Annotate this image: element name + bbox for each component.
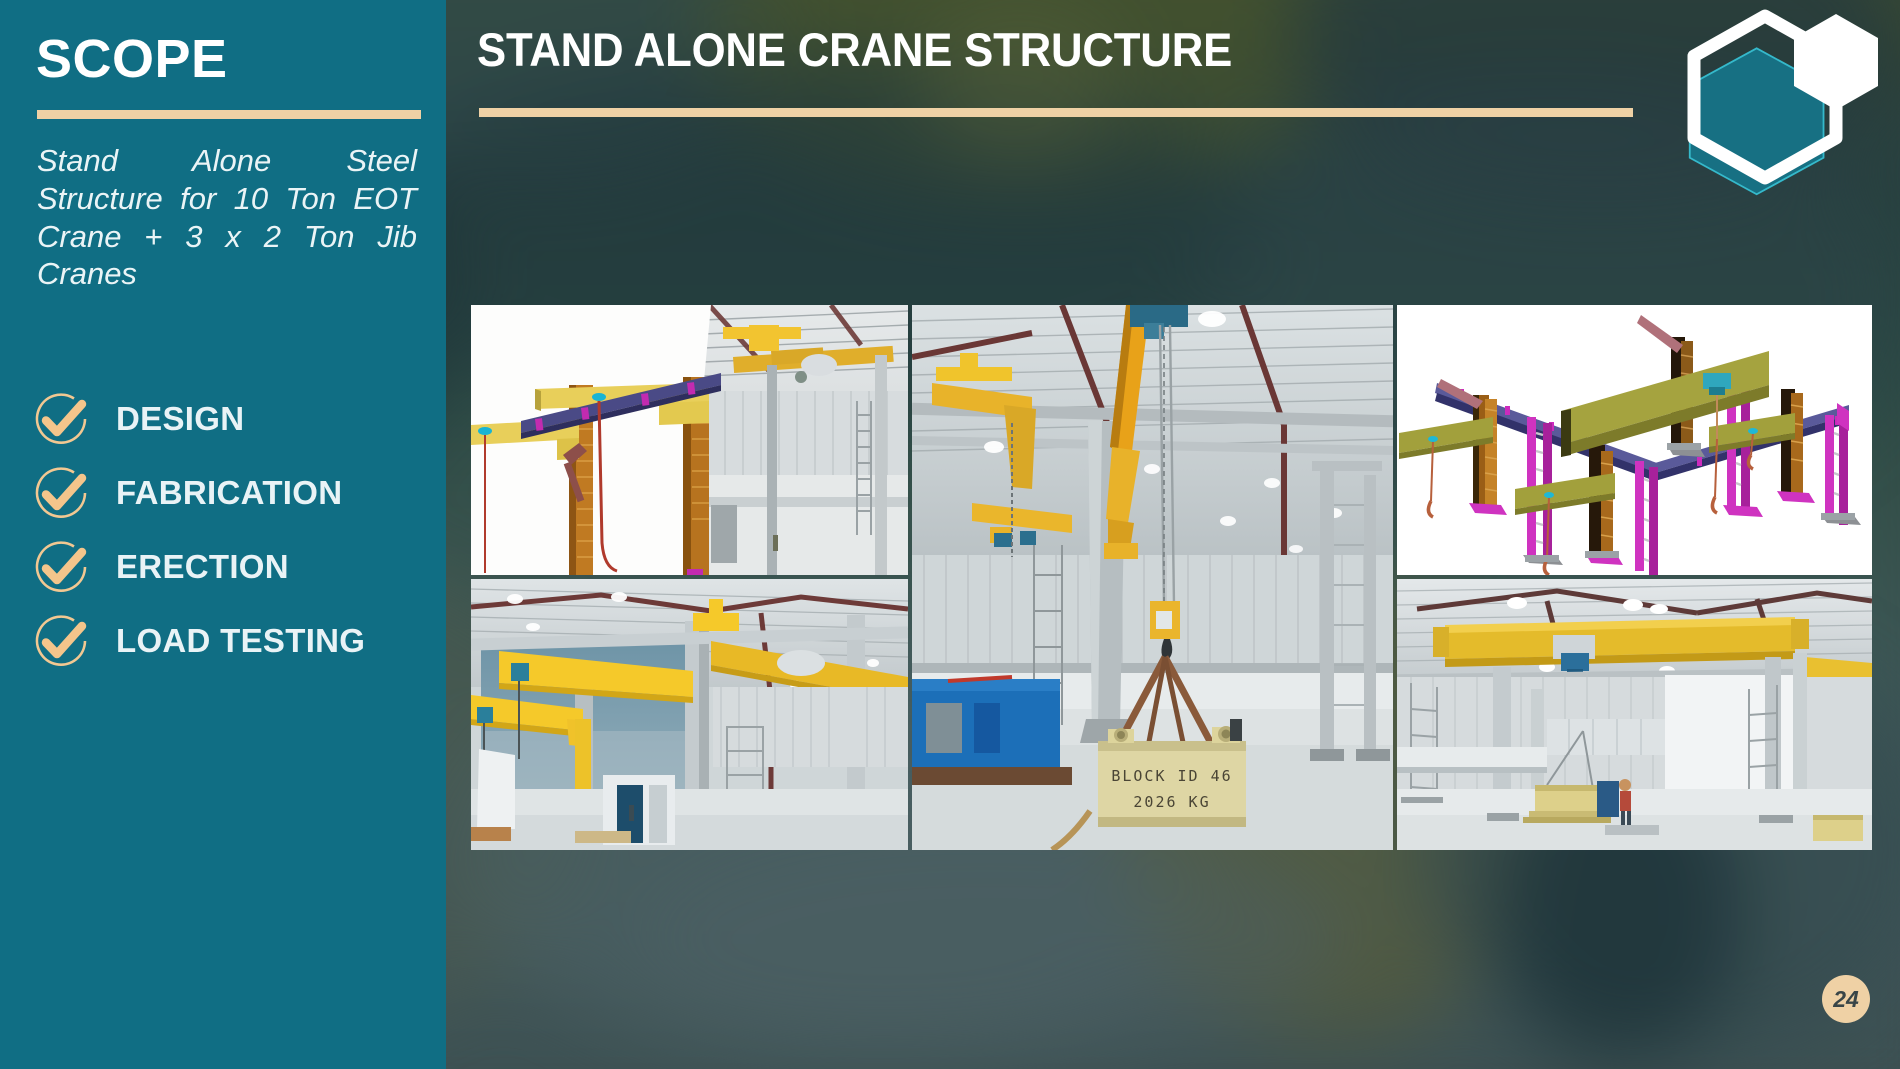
- checklist-item-label: FABRICATION: [116, 474, 342, 512]
- image-collage: BLOCK ID 46 2026 KG: [471, 305, 1872, 850]
- checklist-item-label: LOAD TESTING: [116, 622, 365, 660]
- checklist-item-erection[interactable]: ERECTION: [30, 530, 430, 604]
- collage-image-top-right[interactable]: [1397, 305, 1872, 575]
- checklist-item-label: DESIGN: [116, 400, 244, 438]
- check-circle-icon: [30, 610, 92, 672]
- scope-checklist: DESIGN FABRICATION ERE: [30, 382, 430, 678]
- collage-image-center[interactable]: BLOCK ID 46 2026 KG: [912, 305, 1393, 850]
- checklist-item-label: ERECTION: [116, 548, 289, 586]
- title-underline-rule: [37, 110, 421, 119]
- collage-image-bottom-right[interactable]: [1397, 579, 1872, 850]
- presentation-slide: SCOPE Stand Alone Steel Structure for 10…: [0, 0, 1900, 1069]
- scope-description: Stand Alone Steel Structure for 10 Ton E…: [37, 142, 417, 293]
- slide-heading: STAND ALONE CRANE STRUCTURE: [477, 22, 1232, 77]
- check-circle-icon: [30, 388, 92, 450]
- collage-image-bottom-left[interactable]: [471, 579, 908, 850]
- checklist-item-load-testing[interactable]: LOAD TESTING: [30, 604, 430, 678]
- checklist-item-fabrication[interactable]: FABRICATION: [30, 456, 430, 530]
- test-block-weight-label: 2026 KG: [1133, 793, 1210, 811]
- page-title: SCOPE: [36, 32, 228, 86]
- collage-image-top-left[interactable]: [471, 305, 908, 575]
- sidebar: SCOPE Stand Alone Steel Structure for 10…: [0, 0, 446, 1069]
- checklist-item-design[interactable]: DESIGN: [30, 382, 430, 456]
- check-circle-icon: [30, 462, 92, 524]
- hexagon-logo: [1640, 0, 1890, 213]
- test-block-id-label: BLOCK ID 46: [1111, 767, 1232, 785]
- check-circle-icon: [30, 536, 92, 598]
- page-number-badge: 24: [1822, 975, 1870, 1023]
- heading-underline-rule: [479, 108, 1633, 117]
